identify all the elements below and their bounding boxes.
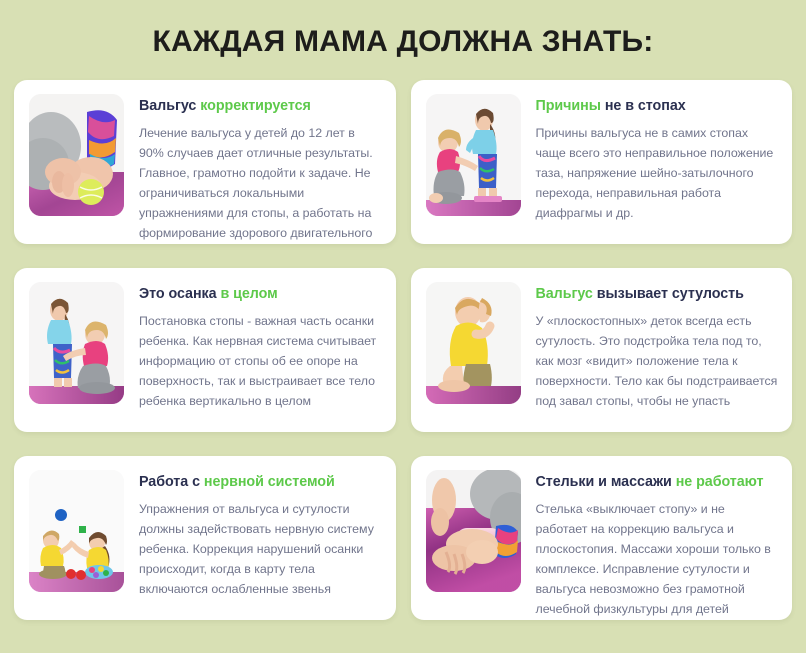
mother-helping-child-stand-photo [426,94,521,216]
mother-adjusting-child-posture-photo [29,282,124,404]
card-heading: Вальгус вызывает сутулость [536,286,779,304]
card-posture-overall[interactable]: Это осанка в целом Постановка стопы - ва… [14,268,396,432]
card-valgus-correctable[interactable]: Вальгус корректируется Лечение вальгуса … [14,80,396,244]
card-heading-plain: Работа с [139,474,204,490]
card-heading-plain: Это осанка [139,286,220,302]
card-heading-accent: Вальгус [536,286,593,302]
card-heading-accent: нервной системой [204,474,335,490]
card-heading-accent: Причины [536,98,601,114]
cards-grid: Вальгус корректируется Лечение вальгуса … [14,80,792,620]
card-heading-plain: вызывает сутулость [593,286,744,302]
card-body: Вальгус корректируется Лечение вальгуса … [139,94,382,244]
card-heading-plain: Вальгус [139,98,200,114]
card-text: Лечение вальгуса у детей до 12 лет в 90%… [139,123,382,244]
foot-exercise-with-roller-photo [426,470,521,592]
card-heading-accent: не работают [676,474,764,490]
card-heading: Это осанка в целом [139,286,382,304]
card-heading: Стельки и массажи не работают [536,474,779,492]
card-text: Причины вальгуса не в самих стопах чаще … [536,123,779,223]
card-nervous-system-work[interactable]: Работа с нервной системой Упражнения от … [14,456,396,620]
page-title: КАЖДАЯ МАМА ДОЛЖНА ЗНАТЬ: [14,0,792,80]
card-body: Работа с нервной системой Упражнения от … [139,470,382,599]
card-body: Это осанка в целом Постановка стопы - ва… [139,282,382,411]
card-body: Вальгус вызывает сутулость У «плоскостоп… [536,282,779,411]
card-text: Стелька «выключает стопу» и не работает … [536,499,779,620]
card-heading-plain: не в стопах [601,98,686,114]
card-text: У «плоскостопных» деток всегда есть суту… [536,311,779,411]
card-heading: Работа с нервной системой [139,474,382,492]
card-heading-accent: корректируется [200,98,311,114]
card-body: Стельки и массажи не работают Стелька «в… [536,470,779,619]
card-text: Постановка стопы - важная часть осанки р… [139,311,382,411]
card-body: Причины не в стопах Причины вальгуса не … [536,94,779,223]
card-valgus-causes-stoop[interactable]: Вальгус вызывает сутулость У «плоскостоп… [411,268,793,432]
card-insoles-massages-dont-work[interactable]: Стельки и массажи не работают Стелька «в… [411,456,793,620]
children-tossing-balls-photo [29,470,124,592]
foot-massage-with-ball-photo [29,94,124,216]
card-heading-plain: Стельки и массажи [536,474,676,490]
page-root: КАЖДАЯ МАМА ДОЛЖНА ЗНАТЬ: [0,0,806,653]
card-text: Упражнения от вальгуса и сутулости должн… [139,499,382,599]
card-causes-not-in-feet[interactable]: Причины не в стопах Причины вальгуса не … [411,80,793,244]
card-heading-accent: в целом [220,286,277,302]
card-heading: Причины не в стопах [536,98,779,116]
boy-in-yellow-shirt-kneeling-photo [426,282,521,404]
card-heading: Вальгус корректируется [139,98,382,116]
